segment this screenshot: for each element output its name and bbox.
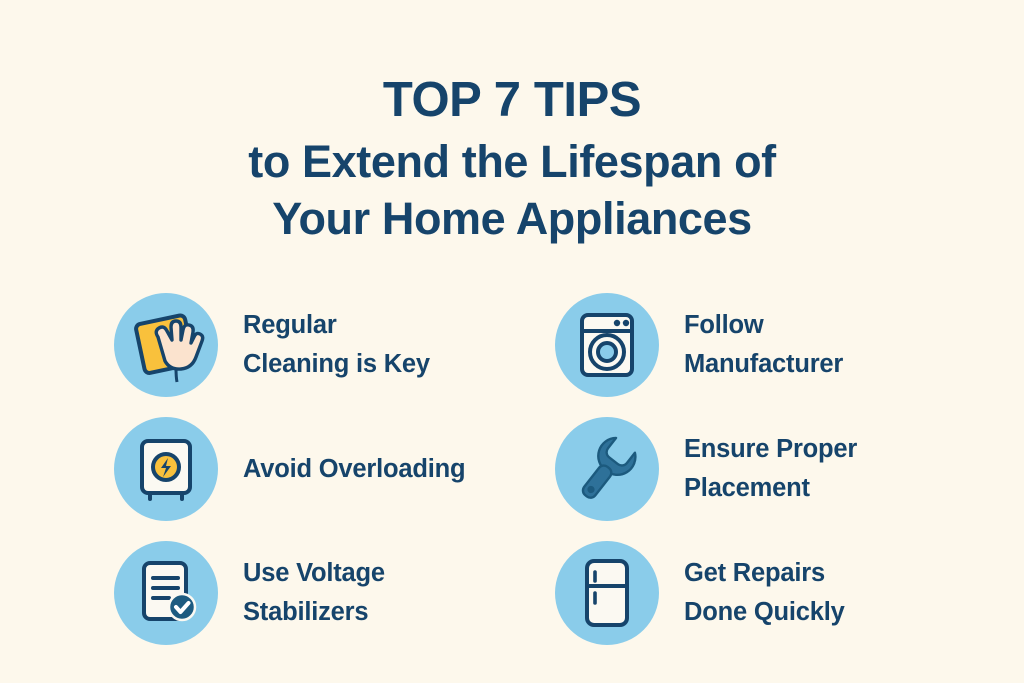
tip-label: Follow Manufacturer bbox=[684, 306, 843, 384]
tip-label: Ensure Proper Placement bbox=[684, 430, 857, 508]
tip-label: Use Voltage Stabilizers bbox=[243, 554, 385, 632]
title-line-2: to Extend the Lifespan of bbox=[0, 139, 1024, 184]
tip-label: Get Repairs Done Quickly bbox=[684, 554, 845, 632]
tip-icon-circle bbox=[114, 541, 218, 645]
title-line-3: Your Home Appliances bbox=[0, 196, 1024, 241]
tip-icon-circle bbox=[555, 293, 659, 397]
tip-item-get-repairs-done-quickly: Get Repairs Done Quickly bbox=[555, 541, 845, 645]
wrench-icon bbox=[555, 417, 659, 521]
tip-icon-circle bbox=[555, 541, 659, 645]
tip-item-use-voltage-stabilizers: Use Voltage Stabilizers bbox=[114, 541, 385, 645]
tip-item-ensure-proper-placement: Ensure Proper Placement bbox=[555, 417, 857, 521]
title-line-1: TOP 7 TIPS bbox=[0, 76, 1024, 125]
tip-item-avoid-overloading: Avoid Overloading bbox=[114, 417, 465, 521]
refrigerator-icon bbox=[555, 541, 659, 645]
tip-label: Avoid Overloading bbox=[243, 450, 465, 489]
tip-item-follow-manufacturer: Follow Manufacturer bbox=[555, 293, 843, 397]
washing-machine-icon bbox=[555, 293, 659, 397]
cleaning-cloth-hand-icon bbox=[114, 293, 218, 397]
document-check-icon bbox=[114, 541, 218, 645]
tip-label: Regular Cleaning is Key bbox=[243, 306, 430, 384]
appliance-power-icon bbox=[114, 417, 218, 521]
tip-icon-circle bbox=[555, 417, 659, 521]
page-title: TOP 7 TIPS to Extend the Lifespan of You… bbox=[0, 76, 1024, 241]
infographic-poster: TOP 7 TIPS to Extend the Lifespan of You… bbox=[0, 0, 1024, 683]
tip-icon-circle bbox=[114, 417, 218, 521]
tip-item-regular-cleaning: Regular Cleaning is Key bbox=[114, 293, 430, 397]
tip-icon-circle bbox=[114, 293, 218, 397]
